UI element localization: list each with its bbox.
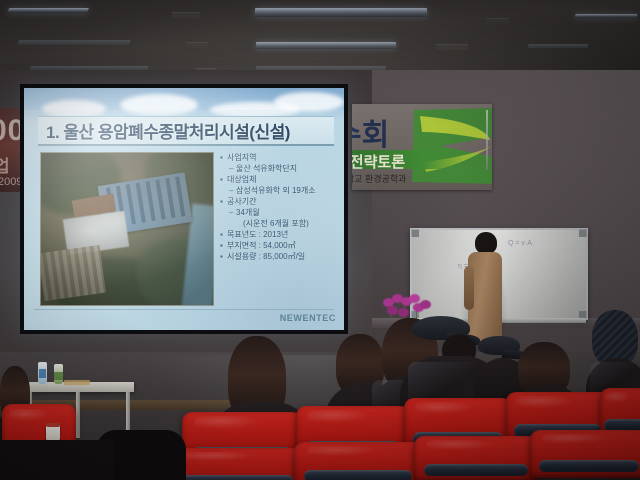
bullet-marker: ▪	[220, 174, 227, 185]
bullet-marker: –	[229, 163, 236, 174]
bullet-row: ▪부지면적 : 54,000㎡	[220, 240, 342, 251]
right-banner-subtitle: 학교 환경공학과	[352, 172, 406, 185]
right-banner-strip: 공전략토론	[352, 150, 462, 169]
bullet-marker: –	[229, 185, 236, 196]
left-banner-mid-text: 업	[0, 152, 10, 177]
bullet-row: ▪공사기간	[220, 196, 342, 207]
ceiling-light-fixture	[17, 40, 131, 45]
slide-aerial-photo	[40, 152, 214, 306]
projected-image: 1. 울산 용암폐수종말처리시설(신설)	[24, 88, 344, 330]
bullet-row: –34개월	[220, 207, 342, 218]
ceiling-vent	[172, 12, 200, 18]
slide-footer-rule	[34, 309, 334, 310]
bullet-text: 사업지역	[227, 152, 256, 163]
ceiling-vent	[436, 44, 468, 50]
right-banner-strip-text: 공전략토론	[352, 151, 405, 172]
bullet-row: ▪목표년도 : 2013년	[220, 229, 342, 240]
ceiling	[0, 0, 640, 74]
ceiling-light-fixture	[255, 8, 427, 17]
presenter-arm	[464, 266, 474, 310]
foreground-silhouette	[0, 440, 114, 480]
ceiling-light-fixture	[574, 14, 637, 18]
paper-cup-rim	[46, 423, 60, 427]
presenter-head	[475, 232, 497, 254]
bullet-text: 시설용량 : 85,000㎡/일	[227, 251, 305, 262]
auditorium-seat	[294, 442, 422, 480]
bullet-row: (시운전 6개월 포함)	[220, 218, 342, 229]
slide-bullet-list: ▪사업지역 –울산 석유화학단지 ▪대상업체 –삼성석유화학 외 19개소 ▪공…	[220, 152, 342, 262]
bullet-row: ▪시설용량 : 85,000㎡/일	[220, 251, 342, 262]
right-banner: 수회 공전략토론 학교 환경공학과	[352, 104, 492, 190]
bullet-text: 34개월	[236, 207, 260, 218]
bullet-text: 삼성석유화학 외 19개소	[236, 185, 316, 196]
banner-swoosh-graphic	[410, 106, 492, 186]
bullet-text: 목표년도 : 2013년	[227, 229, 288, 240]
banner-pole	[486, 110, 488, 170]
bullet-row: ▪대상업체	[220, 174, 342, 185]
slide-title-text: 1. 울산 용암폐수종말처리시설(신설)	[46, 118, 290, 143]
bullet-row: –울산 석유화학단지	[220, 163, 342, 174]
bullet-marker	[236, 218, 243, 229]
bullet-text: (시운전 6개월 포함)	[243, 218, 309, 229]
ceiling-vent	[486, 18, 510, 23]
snack-tray	[64, 380, 90, 385]
ceiling-light-fixture	[256, 42, 396, 49]
slide-logo-newentec: NEWENTEC	[280, 313, 336, 323]
photo-shading	[41, 153, 213, 305]
bullet-marker: ▪	[220, 240, 227, 251]
ceiling-vent	[186, 42, 208, 47]
table-leg	[126, 392, 130, 432]
bullet-text: 울산 석유화학단지	[236, 163, 297, 174]
bullet-marker: ▪	[220, 152, 227, 163]
bullet-text: 대상업체	[227, 174, 256, 185]
bullet-text: 부지면적 : 54,000㎡	[227, 240, 296, 251]
bullet-row: ▪사업지역	[220, 152, 342, 163]
green-bottle	[54, 364, 63, 384]
table-leg	[76, 392, 80, 438]
bullet-marker: ▪	[220, 196, 227, 207]
ceiling-light-fixture	[528, 44, 589, 48]
bullet-row: –삼성석유화학 외 19개소	[220, 185, 342, 196]
projection-screen: 1. 울산 용암폐수종말처리시설(신설)	[20, 84, 348, 334]
ceiling-light-fixture	[7, 8, 89, 13]
auditorium-seat	[530, 430, 640, 478]
auditorium-seat	[414, 436, 538, 480]
auditorium-seat	[168, 448, 304, 480]
presentation-slide: 1. 울산 용암폐수종말처리시설(신설)	[24, 88, 344, 330]
lecture-hall-photo: 00 업 2009. 수회 공전략토론 학교 환경공학과	[0, 0, 640, 480]
bullet-text: 공사기간	[227, 196, 256, 207]
bullet-marker: –	[229, 207, 236, 218]
right-banner-title: 수회	[352, 110, 389, 154]
slide-title-bar: 1. 울산 용암폐수종말처리시설(신설)	[38, 116, 334, 146]
bullet-marker: ▪	[220, 251, 227, 262]
bullet-marker: ▪	[220, 229, 227, 240]
